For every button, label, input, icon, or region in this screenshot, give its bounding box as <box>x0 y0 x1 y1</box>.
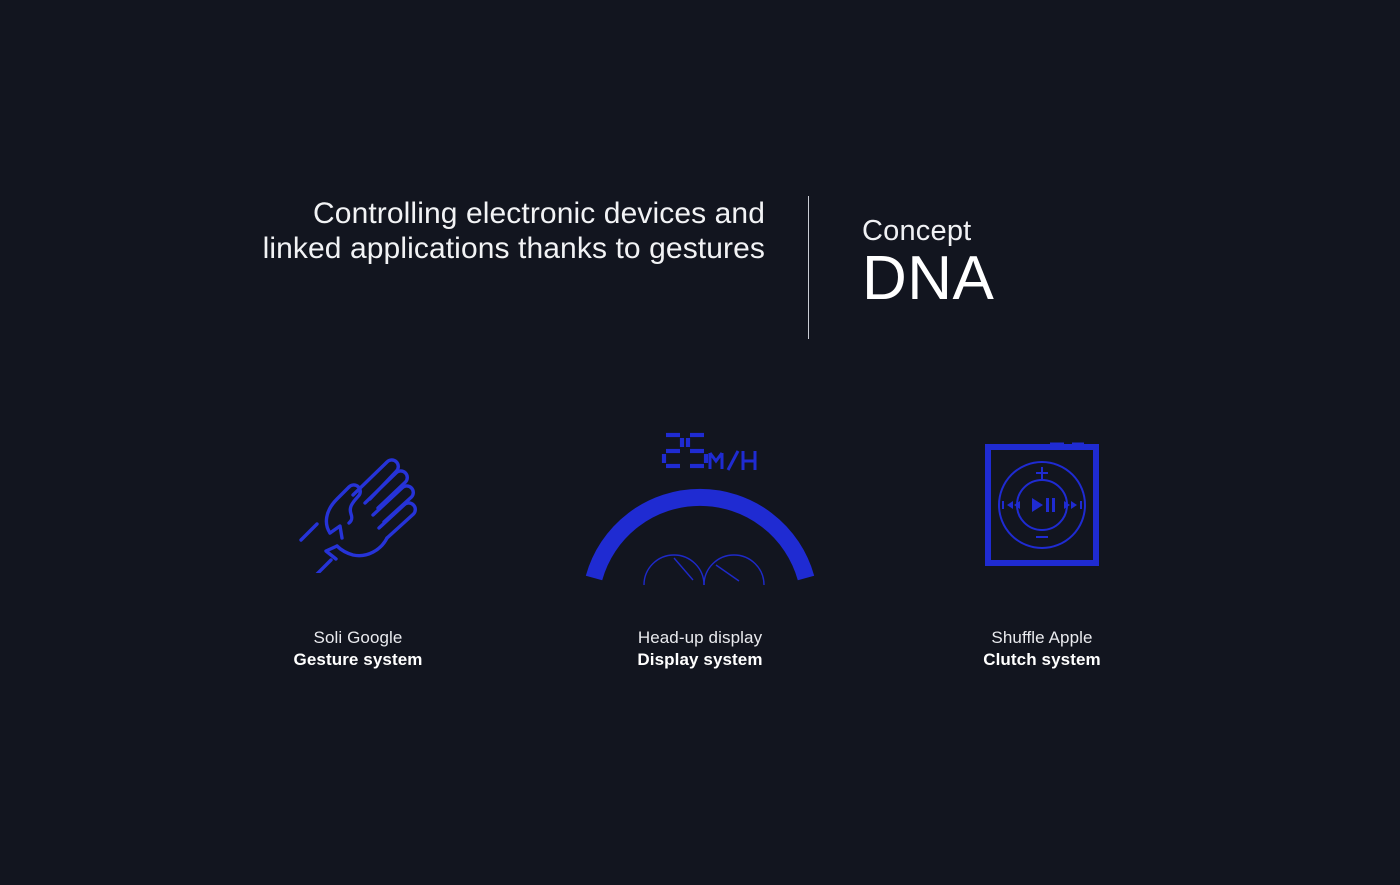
caption-bottom: Gesture system <box>294 649 423 671</box>
caption-gesture-system: Soli Google Gesture system <box>294 627 423 671</box>
column-clutch-system: Shuffle Apple Clutch system <box>871 425 1213 671</box>
caption-display-system: Head-up display Display system <box>637 627 762 671</box>
caption-bottom: Clutch system <box>983 649 1101 671</box>
hand-gesture-icon <box>187 425 529 585</box>
concept-columns: Soli Google Gesture system <box>0 425 1400 685</box>
slide-root: Controlling electronic devices and linke… <box>0 0 1400 885</box>
caption-bottom: Display system <box>637 649 762 671</box>
head-up-display-icon <box>529 425 871 585</box>
digit-2 <box>664 435 682 466</box>
volume-up-icon <box>1036 467 1048 479</box>
headline-line-1: Controlling electronic devices and <box>180 196 765 231</box>
title-block: Concept DNA <box>862 216 994 310</box>
gauge-right <box>704 555 764 585</box>
hud-arc <box>594 497 806 578</box>
gauge-left <box>644 555 704 585</box>
caption-top: Soli Google <box>294 627 423 649</box>
ipod-shuffle-icon <box>871 425 1213 585</box>
header: Controlling electronic devices and linke… <box>0 196 1400 341</box>
caption-top: Head-up display <box>637 627 762 649</box>
vertical-divider <box>808 196 809 339</box>
play-pause-icon <box>1032 498 1055 512</box>
title-eyebrow: Concept <box>862 216 994 246</box>
caption-clutch-system: Shuffle Apple Clutch system <box>983 627 1101 671</box>
column-gesture-system: Soli Google Gesture system <box>187 425 529 671</box>
headline-line-2: linked applications thanks to gestures <box>180 231 765 266</box>
caption-top: Shuffle Apple <box>983 627 1101 649</box>
column-display-system: Head-up display Display system <box>529 425 871 671</box>
headline: Controlling electronic devices and linke… <box>180 196 765 266</box>
digit-5 <box>688 435 706 466</box>
unit-mph <box>710 451 755 470</box>
page-title: DNA <box>862 248 994 310</box>
